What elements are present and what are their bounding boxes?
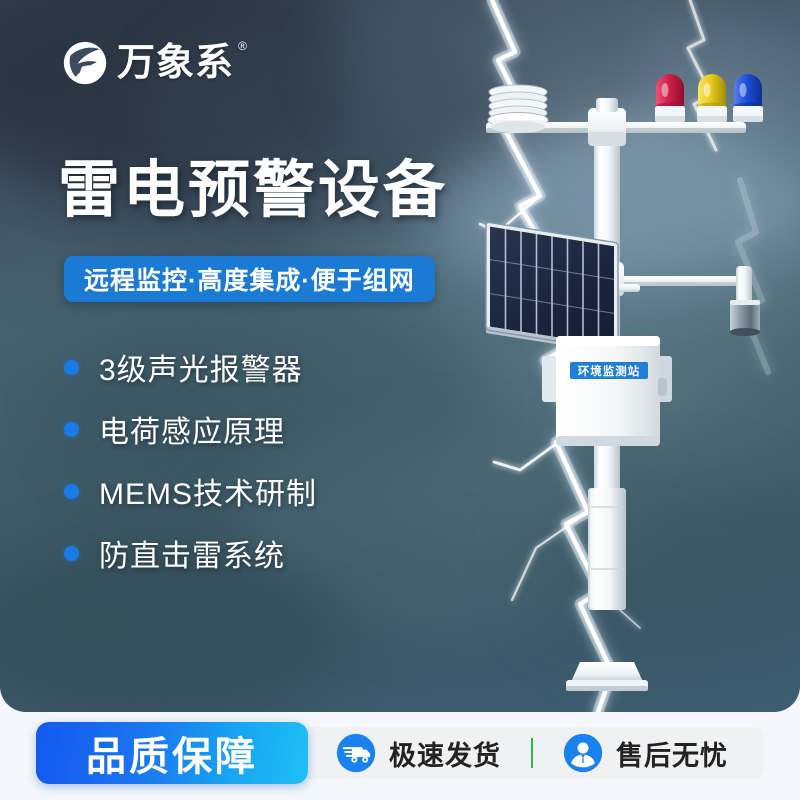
delivery-truck-icon xyxy=(336,733,376,773)
list-item: MEMS技术研制 xyxy=(64,472,317,510)
page-title: 雷电预警设备 xyxy=(58,160,448,222)
service-label: 极速发货 xyxy=(389,734,501,773)
feature-label: MEMS技术研制 xyxy=(99,469,317,513)
product-illustration: 环境监测站 xyxy=(430,70,800,710)
radiation-shield-sensor xyxy=(488,85,548,133)
list-item: 3级声光报警器 xyxy=(64,348,317,386)
base-plate xyxy=(566,662,648,691)
feature-label: 防直击雷系统 xyxy=(99,531,285,575)
brand-logo: 万象系 ® xyxy=(62,40,234,86)
service-fast-shipping[interactable]: 极速发货 xyxy=(336,733,501,773)
feature-label: 3级声光报警器 xyxy=(99,345,303,389)
feature-label: 电荷感应原理 xyxy=(99,407,285,451)
quality-guarantee-badge[interactable]: 品质保障 xyxy=(36,722,308,784)
bullet-dot-icon xyxy=(64,422,79,437)
cylindrical-sensor-probe xyxy=(730,300,760,336)
subtitle-badge-label: 远程监控·高度集成·便于组网 xyxy=(84,261,415,297)
bullet-dot-icon xyxy=(64,546,79,561)
brand-name-label: 万象系 xyxy=(117,42,234,84)
bullet-dot-icon xyxy=(64,360,79,375)
divider xyxy=(531,738,533,768)
quality-guarantee-label: 品质保障 xyxy=(86,724,258,782)
list-item: 电荷感应原理 xyxy=(64,410,317,448)
subtitle-badge: 远程监控·高度集成·便于组网 xyxy=(64,256,435,302)
trust-banner: 品质保障 极速发货 xyxy=(36,722,764,784)
swoosh-globe-logo-icon xyxy=(62,40,108,86)
service-strip: 极速发货 售后无忧 xyxy=(292,727,764,779)
service-label: 售后无忧 xyxy=(616,734,728,773)
storm-background: 万象系 ® 雷电预警设备 远程监控·高度集成·便于组网 3级声光报警器 电荷感应… xyxy=(0,0,800,712)
promo-banner-page: 万象系 ® 雷电预警设备 远程监控·高度集成·便于组网 3级声光报警器 电荷感应… xyxy=(0,0,800,800)
bullet-dot-icon xyxy=(64,484,79,499)
registered-trademark-icon: ® xyxy=(238,40,248,52)
control-cabinet: 环境监测站 xyxy=(542,336,672,446)
service-after-sales[interactable]: 售后无忧 xyxy=(563,733,728,773)
three-stage-alarm-beacons xyxy=(655,74,763,122)
cabinet-label-text: 环境监测站 xyxy=(578,364,641,378)
brand-name-text: 万象系 ® xyxy=(117,44,234,82)
list-item: 防直击雷系统 xyxy=(64,534,317,572)
feature-list: 3级声光报警器 电荷感应原理 MEMS技术研制 防直击雷系统 xyxy=(64,348,317,572)
customer-service-person-icon xyxy=(563,733,603,773)
